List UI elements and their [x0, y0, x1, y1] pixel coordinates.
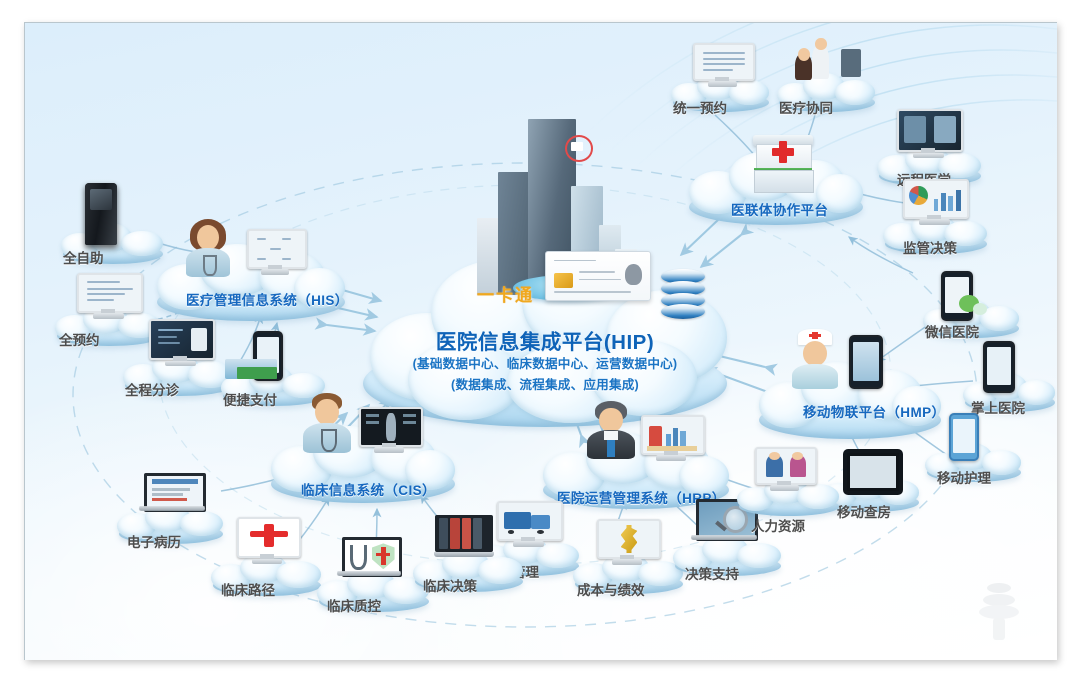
clinical-pathway-cross-icon[interactable]	[237, 517, 297, 565]
nurse-with-phone-icon	[791, 329, 839, 389]
anatomy-monitor-icon[interactable]	[359, 407, 419, 453]
mobile-device-icon[interactable]	[849, 335, 879, 385]
self-service-kiosk-icon[interactable]	[85, 183, 117, 245]
leaf-label-handheld-hospital: 掌上医院	[971, 397, 1025, 417]
yikatong-badge: 一卡通	[477, 281, 534, 306]
leaf-label-supervision: 监管决策	[903, 237, 957, 257]
leaf-label-self-service: 全自助	[63, 247, 104, 267]
male-doctor-icon	[303, 393, 351, 453]
id-card-icon[interactable]	[545, 251, 651, 301]
leaf-label-emr: 电子病历	[127, 531, 181, 551]
hub-label-union: 医联体协作平台	[731, 199, 828, 219]
leaf-label-payment: 便捷支付	[223, 389, 277, 409]
finance-report-monitor-icon[interactable]	[641, 415, 701, 461]
payment-card-icon	[237, 367, 277, 379]
hub-label-his: 医疗管理信息系统（HIS）	[186, 289, 349, 309]
hospital-building-icon	[751, 131, 815, 195]
leaf-label-quality-control: 临床质控	[327, 595, 381, 615]
mobile-ward-round-tablet-icon[interactable]	[843, 449, 895, 487]
mobile-nursing-pda-icon[interactable]	[949, 413, 975, 457]
leaf-label-triage: 全程分诊	[125, 379, 179, 399]
logistics-truck-icon[interactable]	[497, 501, 559, 547]
leaf-label-wechat-hospital: 微信医院	[925, 321, 979, 341]
analytics-chart-icon[interactable]	[903, 179, 965, 225]
collaboration-people-icon	[795, 37, 861, 91]
hip-subtitle-1: (基础数据中心、临床数据中心、运营数据中心)	[355, 353, 735, 372]
emr-laptop-icon[interactable]	[139, 473, 205, 517]
leaf-label-mobile-ward: 移动查房	[837, 501, 891, 521]
booking-monitor-icon[interactable]	[693, 43, 751, 87]
handheld-hospital-icon[interactable]	[983, 341, 1011, 389]
hub-label-cis: 临床信息系统（CIS）	[301, 479, 436, 499]
leaf-label-clinical-pathway: 临床路径	[221, 579, 275, 599]
diagram-stage: 一卡通 医院信息集成平台(HIP) (基础数据中心、临床数据中心、运营数据中心)…	[0, 0, 1080, 681]
dollar-cost-icon[interactable]	[597, 519, 657, 565]
appointment-monitor-icon[interactable]	[77, 273, 139, 319]
hub-label-hmp: 移动物联平台（HMP）	[803, 401, 945, 421]
triage-monitor-icon[interactable]	[149, 319, 211, 367]
watermark-icon	[967, 574, 1031, 644]
wechat-bubble-small-icon	[973, 303, 987, 315]
hip-subtitle-2: (数据集成、流程集成、应用集成)	[355, 374, 735, 393]
leaf-label-cost-performance: 成本与绩效	[577, 579, 645, 599]
hr-people-icon[interactable]	[755, 447, 813, 491]
leaf-label-mobile-nursing: 移动护理	[937, 467, 991, 487]
leaf-label-decision-support: 决策支持	[685, 563, 739, 583]
diagram-canvas: 一卡通 医院信息集成平台(HIP) (基础数据中心、临床数据中心、运营数据中心)…	[24, 22, 1057, 660]
leaf-label-hr: 人力资源	[751, 515, 805, 535]
leaf-label-collaboration: 医疗协同	[779, 97, 833, 117]
quality-control-shield-icon[interactable]	[337, 537, 401, 583]
database-stack-icon	[661, 269, 705, 319]
hip-title: 医院信息集成平台(HIP)	[355, 325, 735, 355]
leaf-label-unified-booking: 统一预约	[673, 97, 727, 117]
leaf-label-clinical-decision: 临床决策	[423, 575, 477, 595]
clinical-decision-folders-icon[interactable]	[433, 513, 495, 563]
female-doctor-icon	[185, 219, 231, 277]
businessman-icon	[587, 401, 635, 459]
network-topology-monitor-icon[interactable]	[247, 229, 303, 275]
telemedicine-icon[interactable]	[897, 109, 959, 159]
leaf-label-appointment: 全预约	[59, 329, 100, 349]
